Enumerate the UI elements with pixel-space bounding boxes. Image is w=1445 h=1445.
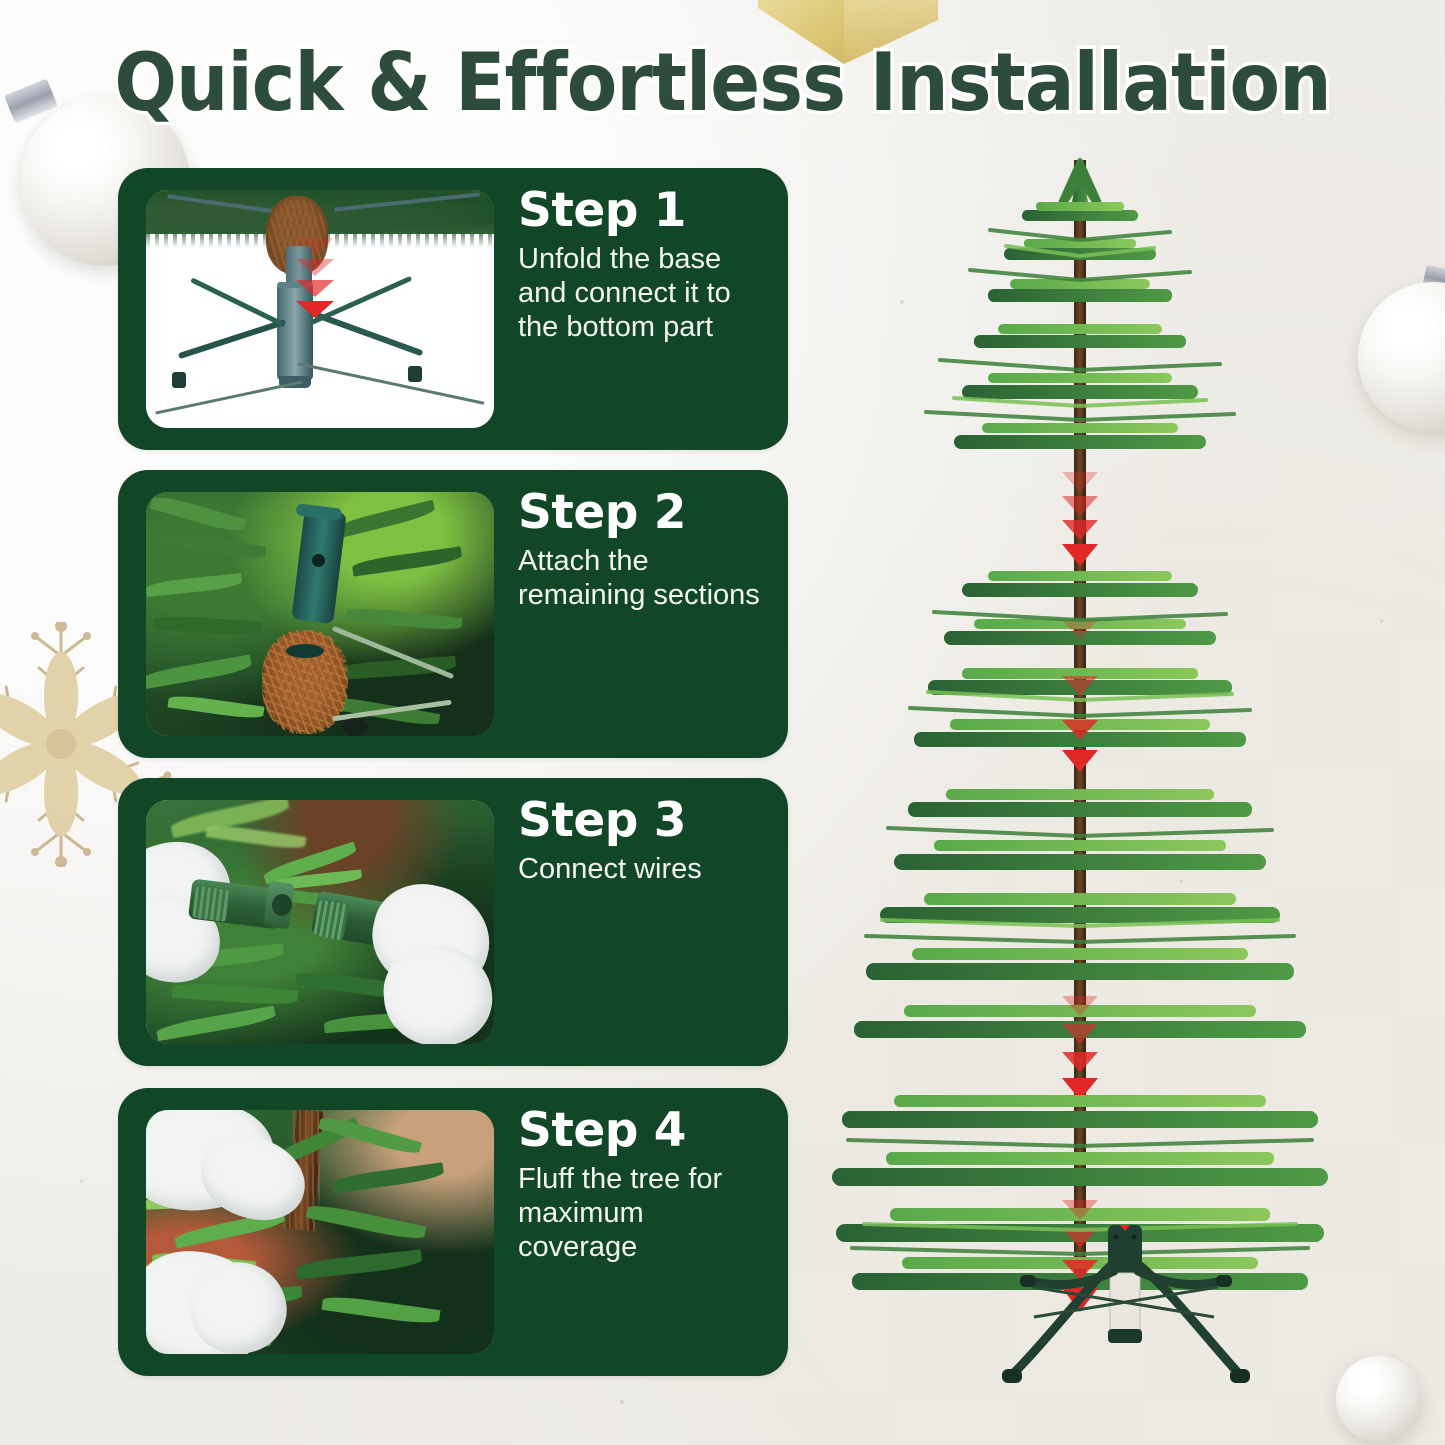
step-1-text: Step 1 Unfold the base and connect it to… xyxy=(518,184,770,345)
infographic-canvas: Quick & Effortless Installation xyxy=(0,0,1445,1445)
texture-speck xyxy=(80,1180,83,1183)
step-1-photo xyxy=(146,190,494,428)
step-3-text: Step 3 Connect wires xyxy=(518,794,770,886)
texture-speck xyxy=(1380,620,1383,623)
step-2-body: Attach the remaining sections xyxy=(518,544,770,612)
step-4-body: Fluff the tree for maximum coverage xyxy=(518,1162,770,1265)
step-2-heading: Step 2 xyxy=(518,486,770,540)
arrow-down-icon xyxy=(296,280,334,297)
page-title: Quick & Effortless Installation xyxy=(58,36,1387,129)
step-4-heading: Step 4 xyxy=(518,1104,770,1158)
tree-stand xyxy=(990,1225,1260,1400)
ornament-ball-right xyxy=(1358,282,1445,432)
arrow-down-icon xyxy=(296,301,334,318)
step-3-heading: Step 3 xyxy=(518,794,770,848)
step-3-photo xyxy=(146,800,494,1044)
step-card-1[interactable]: Step 1 Unfold the base and connect it to… xyxy=(118,168,788,450)
step-card-3[interactable]: Step 3 Connect wires xyxy=(118,778,788,1066)
step-4-photo xyxy=(146,1110,494,1354)
texture-speck xyxy=(620,1400,624,1404)
step-card-4[interactable]: Step 4 Fluff the tree for maximum covera… xyxy=(118,1088,788,1376)
arrow-down-icon xyxy=(296,238,334,255)
step-4-text: Step 4 Fluff the tree for maximum covera… xyxy=(518,1104,770,1265)
step-1-heading: Step 1 xyxy=(518,184,770,238)
step-2-text: Step 2 Attach the remaining sections xyxy=(518,486,770,612)
step-2-photo xyxy=(146,492,494,736)
ornament-ball-bottom-right xyxy=(1336,1356,1422,1442)
step-3-body: Connect wires xyxy=(518,852,770,886)
christmas-tree-product-image xyxy=(830,120,1330,1380)
step-1-body: Unfold the base and connect it to the bo… xyxy=(518,242,770,345)
step-card-2[interactable]: Step 2 Attach the remaining sections xyxy=(118,470,788,758)
arrow-down-icon xyxy=(296,259,334,276)
